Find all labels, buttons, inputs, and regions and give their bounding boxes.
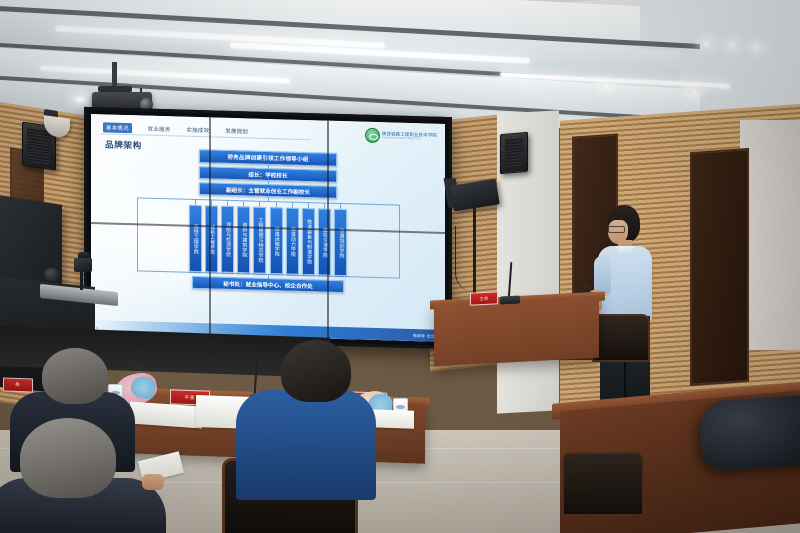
speaker-grill	[27, 127, 51, 164]
ceiling-downlight	[600, 82, 612, 89]
front-nameplate-text: 主席	[480, 295, 489, 301]
ceiling-downlight	[700, 40, 712, 47]
video-camera	[74, 258, 92, 272]
institution-logo: 陕西铁路工程职业技术学院 SHAANXI RAILWAY INSTITUTE	[365, 128, 437, 145]
attendee-hand	[142, 474, 164, 490]
org-dept-column: 铁道培训学院	[334, 204, 347, 276]
tab-development-plan[interactable]: 发展规划	[225, 127, 248, 136]
ceiling-downlight	[751, 44, 763, 51]
org-dept-column: 铁道运输学院	[270, 202, 283, 274]
desk-nameplate-left-text: 委	[15, 382, 20, 388]
org-dept-column: 测绘与检测学院	[221, 201, 234, 273]
org-dept-column: 城轨工程学院	[205, 200, 218, 272]
org-connector	[268, 274, 269, 279]
camera-tripod	[80, 272, 83, 290]
org-dept-column: 铁道装备与制造学院	[302, 203, 315, 275]
speaker-grill	[505, 137, 523, 169]
org-chart: 劳务品牌创建引领工作领导小组 组长：学校校长 副组长：主管就业创业工作副校长 高…	[91, 146, 445, 338]
org-connector	[268, 179, 269, 184]
attendee-center-body	[236, 390, 376, 500]
tab-employment-service[interactable]: 就业服务	[148, 125, 171, 134]
conference-chair[interactable]	[592, 314, 650, 362]
microphone-base	[500, 295, 520, 304]
eyeglasses-icon	[608, 226, 625, 233]
attendee-foreground-head	[20, 418, 116, 498]
led-video-wall[interactable]: 基本情况 就业服务 实施成效 发展规划 陕西铁路工程职业技术学院 SHAANXI…	[84, 107, 452, 349]
projector-mount-rod	[112, 62, 117, 88]
org-box-dept: 铁道装备与制造学院	[302, 208, 315, 275]
org-box-dept: 测绘与检测学院	[221, 206, 234, 273]
attendee-front-left-head	[42, 348, 108, 404]
org-department-row: 高铁工程学院 城轨工程学院 测绘与检测学院 道桥与建筑学院	[91, 197, 445, 279]
conference-room-scene: 基本情况 就业服务 实施成效 发展规划 陕西铁路工程职业技术学院 SHAANXI…	[0, 0, 800, 533]
logo-mark-icon	[365, 128, 380, 143]
front-nameplate: 主席	[470, 291, 498, 305]
org-box-dept: 工程管理与物流学院	[253, 207, 266, 274]
tab-implementation-results[interactable]: 实施成效	[187, 126, 210, 135]
org-box-dept: 铁道运输学院	[270, 207, 283, 274]
org-box-dept: 铁道动力学院	[286, 207, 299, 274]
desk-nameplate-center-text: 平委	[185, 394, 196, 400]
light-power-cable	[455, 226, 474, 292]
tab-basic-info[interactable]: 基本情况	[103, 122, 132, 133]
attendee-center-head	[281, 340, 351, 402]
org-connector	[268, 163, 269, 168]
org-dept-column: 工程管理与物流学院	[253, 202, 266, 274]
desk-nameplate-left: 委	[3, 377, 33, 392]
ceiling-downlight	[74, 96, 86, 103]
org-box-dept: 高铁工程学院	[189, 205, 202, 272]
wall-speaker-right	[500, 132, 528, 174]
secondary-camera	[44, 268, 60, 281]
logo-name-en: SHAANXI RAILWAY INSTITUTE	[382, 137, 437, 141]
conference-chair[interactable]	[562, 452, 644, 516]
org-box-dept: 铁道培训学院	[334, 209, 347, 276]
org-dept-column: 铁道动力学院	[286, 202, 299, 274]
org-box-dept: 国际交通学院	[318, 208, 331, 275]
org-box-dept: 城轨工程学院	[205, 205, 218, 272]
org-box-dept: 道桥与建筑学院	[237, 206, 250, 273]
org-dept-column: 高铁工程学院	[189, 200, 202, 272]
wall-far-right	[740, 120, 800, 350]
door-right[interactable]	[690, 148, 749, 386]
video-wall-display-area: 基本情况 就业服务 实施成效 发展规划 陕西铁路工程职业技术学院 SHAANXI…	[91, 114, 445, 342]
front-table	[434, 296, 599, 367]
org-dept-column: 道桥与建筑学院	[237, 201, 250, 273]
ceiling-downlight	[688, 88, 700, 95]
ceiling-downlight	[726, 42, 738, 49]
logo-text-block: 陕西铁路工程职业技术学院 SHAANXI RAILWAY INSTITUTE	[382, 132, 437, 141]
org-dept-column: 国际交通学院	[318, 203, 331, 275]
backpack[interactable]	[698, 394, 800, 472]
